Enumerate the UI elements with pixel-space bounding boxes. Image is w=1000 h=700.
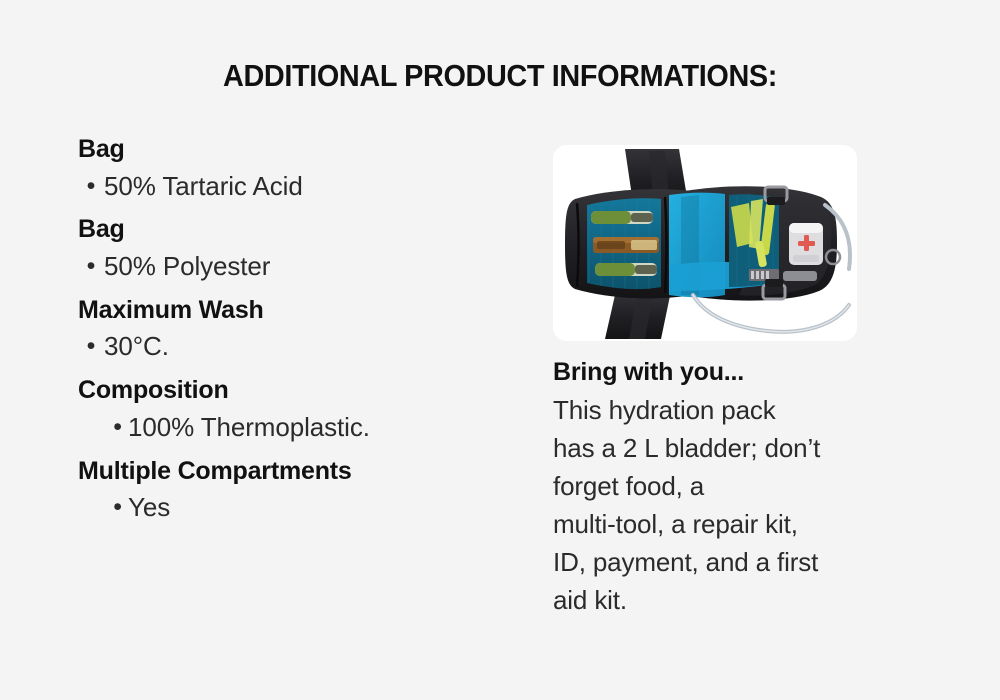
bullet-icon: • (78, 493, 128, 522)
spec-block: Bag • 50% Tartaric Acid (78, 135, 518, 201)
spec-value: 50% Polyester (104, 252, 270, 282)
spec-block: Composition • 100% Thermoplastic. (78, 376, 518, 442)
spec-heading: Bag (78, 135, 518, 165)
gel-tube-icon (595, 263, 657, 276)
spec-heading: Composition (78, 376, 518, 406)
spec-value-row: • 50% Polyester (78, 252, 518, 282)
spec-heading: Multiple Compartments (78, 457, 518, 487)
bring-with-you-heading: Bring with you... (553, 357, 953, 387)
spec-value-row: • 50% Tartaric Acid (78, 172, 518, 202)
page-title: ADDITIONAL PRODUCT INFORMATIONS: (35, 58, 965, 94)
energy-bar-icon (593, 237, 659, 253)
gel-tube-icon (591, 211, 653, 224)
spec-block: Bag • 50% Polyester (78, 215, 518, 281)
spec-block: Multiple Compartments • Yes (78, 457, 518, 523)
bullet-icon: • (78, 252, 104, 281)
first-aid-kit-icon (789, 223, 823, 265)
specification-list: Bag • 50% Tartaric Acid Bag • 50% Polyes… (78, 135, 518, 537)
spec-block: Maximum Wash • 30°C. (78, 296, 518, 362)
product-image-card (553, 145, 857, 341)
right-column: Bring with you... This hydration pack ha… (553, 145, 953, 619)
spec-heading: Bag (78, 215, 518, 245)
spec-value: 100% Thermoplastic. (128, 413, 370, 443)
spec-value: 30°C. (104, 332, 169, 362)
bullet-icon: • (78, 413, 128, 442)
hydration-pack-illustration (553, 145, 857, 341)
bullet-icon: • (78, 332, 104, 361)
spec-value: 50% Tartaric Acid (104, 172, 303, 202)
spec-value: Yes (128, 493, 170, 523)
bullet-icon: • (78, 172, 104, 201)
bring-with-you-body: This hydration pack has a 2 L bladder; d… (553, 391, 933, 619)
spec-value-row: • Yes (78, 493, 518, 523)
spec-value-row: • 100% Thermoplastic. (78, 413, 518, 443)
spec-heading: Maximum Wash (78, 296, 518, 326)
spec-value-row: • 30°C. (78, 332, 518, 362)
